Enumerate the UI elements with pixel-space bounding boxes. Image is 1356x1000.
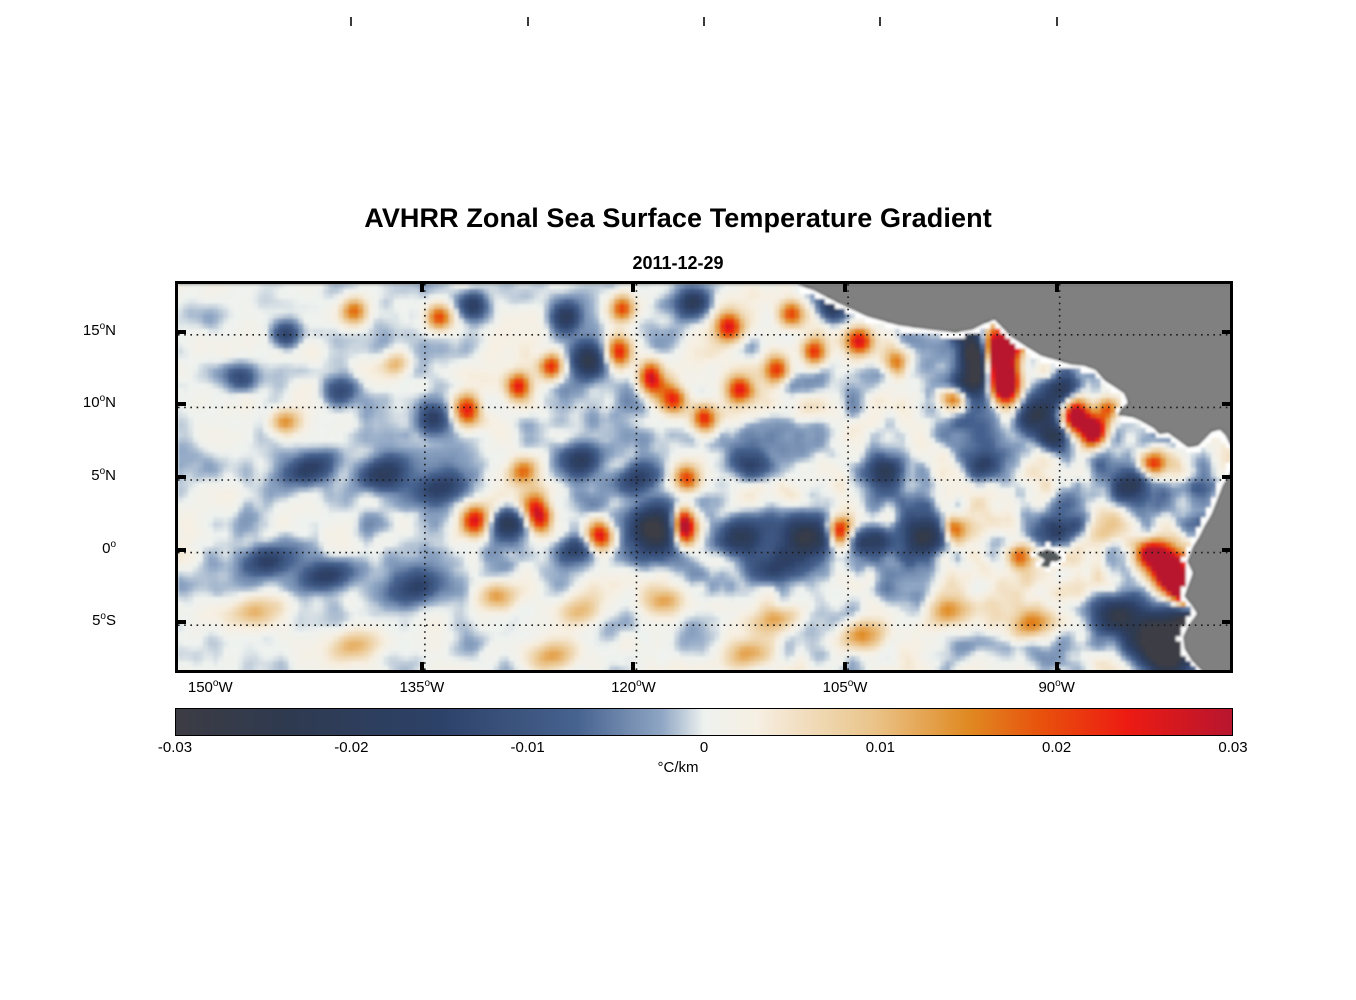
- figure-subtitle: 2011-12-29: [0, 253, 1356, 274]
- y-tick-mark: [1222, 475, 1233, 479]
- colorbar-unit-label: °C/km: [0, 759, 1356, 776]
- y-tick-label: 5oS: [0, 611, 116, 629]
- x-tick-mark: [843, 281, 847, 292]
- x-tick-label: 135oW: [362, 678, 482, 696]
- colorbar-tick-label: -0.03: [115, 739, 235, 756]
- map-axes: [175, 281, 1233, 673]
- colorbar-tick-label: -0.02: [291, 739, 411, 756]
- colorbar-tick: [703, 17, 705, 26]
- x-tick-mark: [843, 662, 847, 673]
- figure-title: AVHRR Zonal Sea Surface Temperature Grad…: [0, 203, 1356, 234]
- x-tick-label: 120oW: [573, 678, 693, 696]
- colorbar-tick: [350, 17, 352, 26]
- colorbar-gradient: [176, 709, 1232, 735]
- y-tick-label: 15oN: [0, 321, 116, 339]
- colorbar-tick-label: 0.03: [1173, 739, 1293, 756]
- x-tick-mark: [420, 281, 424, 292]
- y-tick-mark: [1222, 330, 1233, 334]
- y-tick-mark: [175, 548, 186, 552]
- y-tick-label: 0o: [0, 539, 116, 557]
- figure-canvas: AVHRR Zonal Sea Surface Temperature Grad…: [0, 0, 1356, 1000]
- colorbar-tick: [879, 17, 881, 26]
- x-tick-mark: [631, 281, 635, 292]
- colorbar-tick-label: 0: [644, 739, 764, 756]
- y-tick-mark: [175, 475, 186, 479]
- x-tick-label: 105oW: [785, 678, 905, 696]
- y-tick-label: 5oN: [0, 466, 116, 484]
- y-tick-mark: [175, 330, 186, 334]
- y-tick-mark: [175, 402, 186, 406]
- colorbar-tick-label: -0.01: [468, 739, 588, 756]
- colorbar-tick: [1056, 17, 1058, 26]
- colorbar-tick-label: 0.01: [820, 739, 940, 756]
- y-tick-mark: [1222, 620, 1233, 624]
- y-tick-label: 10oN: [0, 393, 116, 411]
- x-tick-label: 90oW: [997, 678, 1117, 696]
- y-tick-mark: [175, 620, 186, 624]
- colorbar-tick: [527, 17, 529, 26]
- x-tick-mark: [420, 662, 424, 673]
- x-tick-mark: [631, 662, 635, 673]
- colorbar-tick-label: 0.02: [997, 739, 1117, 756]
- y-tick-mark: [1222, 402, 1233, 406]
- colorbar: [175, 708, 1233, 736]
- x-tick-mark: [1055, 662, 1059, 673]
- sst-gradient-heatmap: [178, 284, 1233, 673]
- x-tick-mark: [1055, 281, 1059, 292]
- x-tick-label: 150oW: [150, 678, 270, 696]
- y-tick-mark: [1222, 548, 1233, 552]
